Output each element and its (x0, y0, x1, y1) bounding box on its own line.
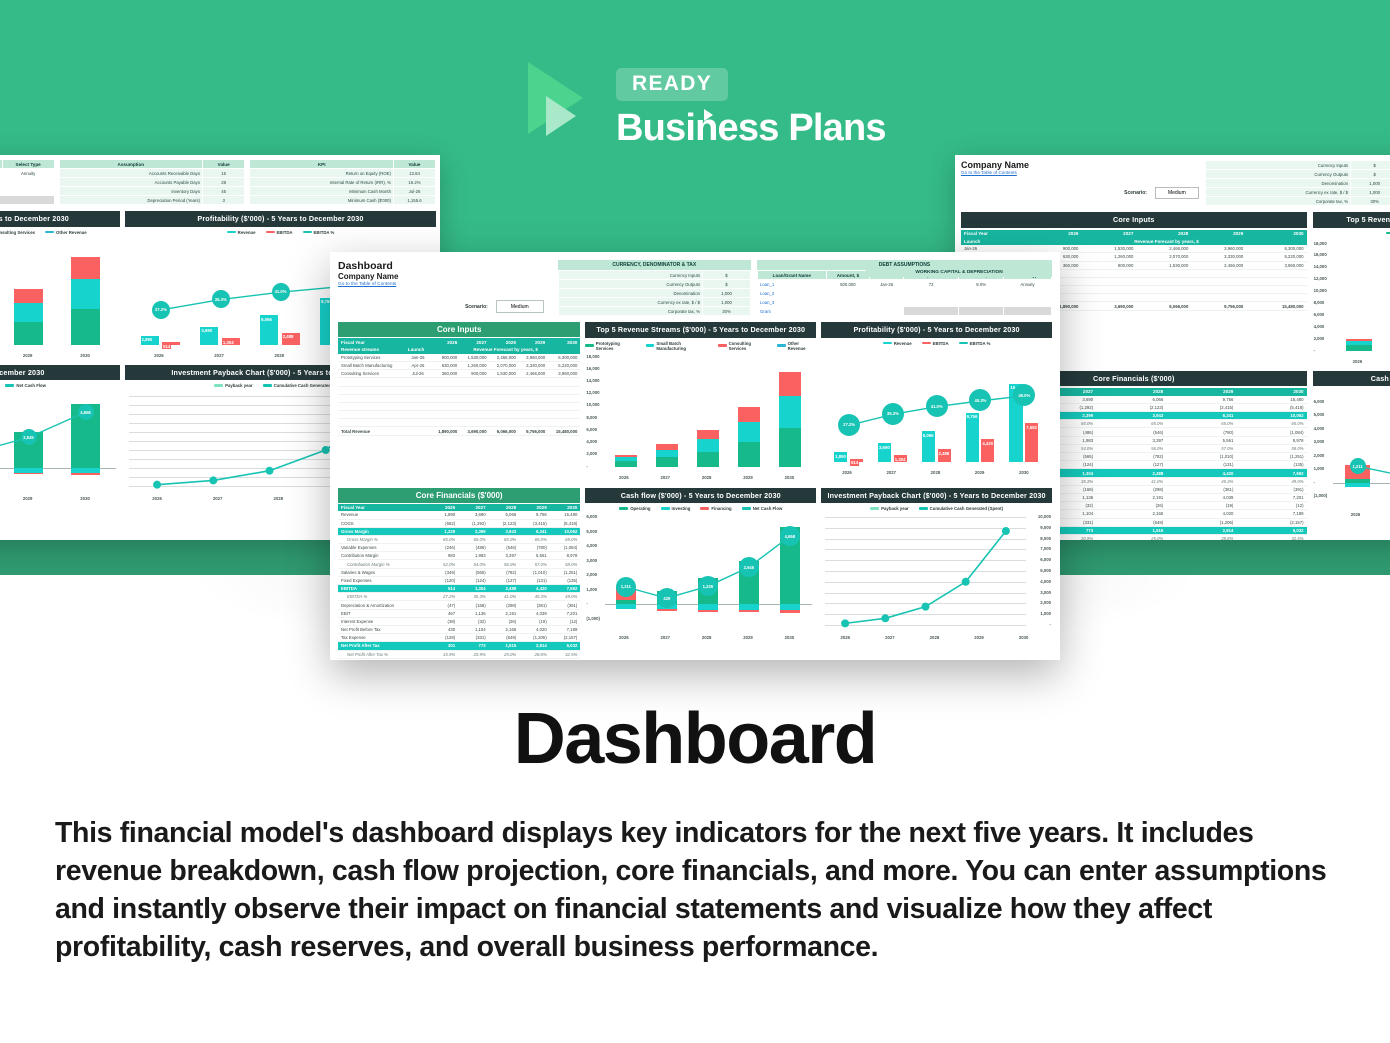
cfin-label-1: COGS (338, 519, 430, 527)
cfin-cell-18-1: 894 (458, 658, 489, 660)
cfin-cell-2-3: 6,341 (519, 527, 550, 535)
y-tick-4: 8,000 (1314, 300, 1325, 305)
cfin-cell-2-2: 3,943 (489, 527, 520, 535)
cfin-cell-7-3: (1,010) (1166, 453, 1236, 461)
cfin-cell-0-2: 6,066 (1096, 396, 1166, 404)
bar-prototyping-services-2026 (1346, 345, 1372, 350)
bar-small-batch-manufacturing-2027 (656, 450, 677, 458)
cfin-cell-11-1: (168) (458, 601, 489, 609)
legend-payback-year: Payback year (225, 383, 252, 388)
cfin-label-9: EBITDA (338, 585, 430, 593)
core-inputs-title: Core Inputs (338, 322, 580, 337)
cfin-cell-2-1: 2,399 (458, 527, 489, 535)
ci-row-name-2[interactable]: Consulting Services (338, 370, 405, 378)
cfin-cell-9-3: 4,420 (1166, 469, 1236, 477)
cfin-cell-1-4: (5,418) (550, 519, 581, 527)
ci-cell-2-0[interactable]: 360,000 (431, 370, 460, 378)
debt-cell-3-1[interactable] (826, 307, 870, 316)
currency-panel-title: CURRENCY, DENOMINATOR & TAX (558, 260, 751, 270)
x-tick-2029: 2029 (974, 635, 984, 640)
cfin-cell-17-3: 28.8% (1166, 534, 1236, 540)
table-row[interactable]: Small Batch ManufacturingApr-26630,0001,… (338, 361, 580, 369)
ci-cell-0-3[interactable]: 3,960,000 (519, 354, 548, 362)
cfin-cell-5-4: 8,978 (550, 552, 581, 560)
table-row-empty[interactable] (338, 378, 580, 386)
ci-cell-2-3[interactable]: 2,466,000 (519, 370, 548, 378)
chart-title-top5: Top 5 Revenue Streams ($'000) - 5 Years … (585, 322, 816, 337)
cfin-cell-15-1: (331) (458, 634, 489, 642)
y-tick-0: - (1314, 348, 1315, 353)
cfin-cell-0-2: 6,066 (489, 511, 520, 519)
lg-ebitda: EBITDA (933, 341, 949, 346)
y-tick-1: 2,000 (586, 451, 597, 456)
lg-consulting: Consulting Services (729, 341, 768, 351)
cfin-yr-2029: 2029 (519, 504, 550, 512)
point-2028 (922, 603, 930, 611)
td-exrate-label: Currency ex rate, $ / $ (1205, 188, 1350, 197)
currency-table-right: Currency Inputs$ Currency Outputs$ Denom… (1205, 160, 1390, 206)
td-r0c1-right[interactable]: 1,530,000 (1081, 245, 1136, 253)
cfin-cell-6-4: 58.0% (550, 560, 581, 568)
th-cf-2028-right: 2028 (1096, 388, 1166, 396)
debt-assumptions-table-left: Amount, $ Launch Term, Months Interest, … (0, 159, 55, 205)
td-r2c4-right[interactable]: 3,960,000 (1246, 261, 1306, 269)
cfin-cell-0-4: 15,480 (550, 511, 581, 519)
cfin-cell-5-4: 8,978 (1236, 436, 1306, 444)
ci-cell-1-3[interactable]: 3,330,000 (519, 361, 548, 369)
ci-streams-label: Revenue streams (338, 346, 405, 354)
td-roe: 13.84 (393, 169, 435, 178)
scenario-label: Scenario: (465, 304, 488, 310)
bar-consulting-services-2029 (738, 407, 759, 422)
cfin-cell-8-1: (124) (458, 576, 489, 584)
x-tick-2027: 2027 (213, 496, 223, 501)
cfin-cell-14-3: 4,020 (519, 625, 550, 633)
net-cash-flow-line (1313, 398, 1390, 518)
debt-cell-2-1[interactable] (826, 298, 870, 307)
cfin-label-11: Depreciation & Amortization (338, 601, 430, 609)
cfin-cell-1-4: (5,418) (1236, 403, 1306, 411)
td-r0c2-right[interactable]: 2,466,000 (1136, 245, 1191, 253)
lg-netcash: Net Cash Flow (753, 506, 783, 511)
td-cur-out[interactable]: $ (1351, 170, 1390, 179)
cfin-cell-7-2: (782) (489, 568, 520, 576)
table-row: Depreciation & Amortization(47)(168)(298… (338, 601, 580, 609)
lg-revenue: Revenue (894, 341, 912, 346)
y-tick-6: 12,000 (1314, 276, 1327, 281)
cfin-cell-11-3: (381) (1166, 485, 1236, 493)
cur-in-value[interactable]: $ (703, 271, 751, 280)
y-tick-7: 14,000 (1314, 264, 1327, 269)
y-tick-8: 16,000 (586, 366, 599, 371)
cfin-cell-5-1: 1,983 (458, 552, 489, 560)
table-row-empty[interactable] (338, 386, 580, 394)
ready-badge: READY (616, 68, 728, 101)
td-ap-days[interactable]: 28 (202, 178, 244, 187)
ci-cell-0-4[interactable]: 6,300,000 (548, 354, 580, 362)
cfin-yr-2027: 2027 (458, 504, 489, 512)
chart-title-top5-left: Top 5 Revenue Streams ($'000) - 5 Years … (0, 211, 120, 226)
th-cf-2030-right: 2030 (1236, 388, 1306, 396)
bar-consulting-services-2028 (697, 430, 718, 439)
cfin-cell-10-2: 41.0% (1096, 477, 1166, 485)
core-financials-title: Core Financials ($'000) (338, 488, 580, 503)
ci-total-2030: 15,480,000 (548, 427, 580, 435)
cfin-cell-8-3: (131) (1166, 461, 1236, 469)
ci-cell-2-2[interactable]: 1,530,000 (490, 370, 519, 378)
bar-consulting-services-2026 (1346, 339, 1372, 341)
x-tick-2027: 2027 (885, 635, 895, 640)
cfin-cell-6-2: 56.0% (1096, 444, 1166, 452)
cfin-cell-12-2: 2,191 (489, 609, 520, 617)
cfin-cell-17-0: 15.9% (430, 650, 458, 658)
cfin-cell-7-1: (565) (458, 568, 489, 576)
lg-investing: Investing (672, 506, 691, 511)
chart-legend-cashflow: Operating Investing Financing Net Cash F… (585, 503, 816, 513)
cfin-cell-16-4: 5,032 (1236, 526, 1306, 534)
y-tick-9: 18,000 (586, 354, 599, 359)
td-denom[interactable]: 1,000 (1351, 179, 1390, 188)
cfin-cell-13-3: (19) (1166, 502, 1236, 510)
cfin-label-8: Fixed Expenses (338, 576, 430, 584)
x-tick-2029: 2029 (23, 353, 33, 358)
cfin-label-10: EBITDA % (338, 593, 430, 601)
lg-cumulative: Cumulative Cash Generated (Spent) (930, 506, 1003, 511)
td-r1c1-right[interactable]: 1,260,000 (1081, 253, 1136, 261)
x-tick-2028: 2028 (702, 635, 712, 640)
ci-cell-1-0[interactable]: 630,000 (431, 361, 460, 369)
cfin-cell-2-4: 10,062 (550, 527, 581, 535)
net-cash-flow-line (0, 392, 120, 502)
bubble-netcash-2026: 1,211 (1350, 458, 1366, 474)
th-assumption: Assumption (59, 160, 202, 169)
x-tick-2027: 2027 (214, 353, 224, 358)
cfin-label-17: Net Profit After Tax % (338, 650, 430, 658)
cfin-cell-8-2: (127) (1096, 461, 1166, 469)
cfin-label-4: Variable Expenses (338, 544, 430, 552)
debt-cell-1-1[interactable] (826, 289, 870, 298)
x-tick-2027: 2027 (886, 470, 896, 475)
debt-cell-3-0[interactable]: Grant (757, 307, 826, 316)
ci-cell-1-2[interactable]: 2,070,000 (490, 361, 519, 369)
td-total-4-right: 15,480,000 (1246, 302, 1306, 310)
ci-row-name-0[interactable]: Prototyping Services (338, 354, 405, 362)
cfin-label-2: Gross Margin (338, 527, 430, 535)
cfin-cell-6-2: 56.0% (489, 560, 520, 568)
y-tick-2: 4,000 (586, 439, 597, 444)
ci-cell-0-2[interactable]: 2,466,000 (490, 354, 519, 362)
cfin-cell-7-4: (1,251) (1236, 453, 1306, 461)
cfin-cell-14-3: 4,020 (1166, 510, 1236, 518)
scenario-select-right[interactable]: Medium (1155, 187, 1199, 199)
debt-cell-2-0[interactable]: Loan_3 (757, 298, 826, 307)
cfin-cell-3-4: 65.0% (550, 535, 581, 543)
chart-title-cashflow: Cash flow ($'000) - 5 Years to December … (585, 488, 816, 503)
td-tax[interactable]: 30% (1351, 197, 1390, 206)
td-r0c4-right[interactable]: 6,300,000 (1246, 245, 1306, 253)
cfin-cell-1-1: (1,292) (458, 519, 489, 527)
bar-prototyping-services-2030 (71, 309, 101, 345)
ci-cell-1-1[interactable]: 1,260,000 (460, 361, 489, 369)
y-tick-7: 14,000 (586, 378, 599, 383)
ci-row-launch-0[interactable]: Jan-26 (405, 354, 431, 362)
wc-panel-title: WORKING CAPITAL & DEPRECIATION (866, 268, 1052, 277)
bar-consulting-services-2030 (71, 257, 101, 279)
cfin-cell-1-0: (662) (430, 519, 458, 527)
cfin-cell-5-2: 3,397 (1096, 436, 1166, 444)
ci-row-name-1[interactable]: Small Batch Manufacturing (338, 361, 405, 369)
x-tick-2028: 2028 (702, 475, 712, 480)
debt-cell-1-0[interactable]: Loan_2 (757, 289, 826, 298)
cfin-cell-0-4: 15,480 (1236, 396, 1306, 404)
ci-cell-1-4[interactable]: 5,220,000 (548, 361, 580, 369)
cfin-cell-14-0: 430 (430, 625, 458, 633)
table-row: Contribution Margin %52.0%54.0%56.0%57.0… (338, 560, 580, 568)
td-r1c4-right[interactable]: 5,220,000 (1246, 253, 1306, 261)
ci-fy-label: Fiscal Year (338, 338, 405, 346)
exrate-value[interactable]: 1,000 (703, 298, 751, 307)
denom-value[interactable]: 1,000 (703, 289, 751, 298)
table-row: EBITDA %27.2%35.3%41.0%45.3%49.0% (338, 593, 580, 601)
lg-operating: Operating (630, 506, 650, 511)
company-name: Company Name (338, 272, 552, 281)
td-r1c3-right[interactable]: 3,330,000 (1191, 253, 1246, 261)
bar-prototyping-services-2029 (738, 442, 759, 466)
lg-payback: Payback year (881, 506, 908, 511)
cfin-cell-18-3: 3,003 (519, 658, 550, 660)
table-row: Interest Expense(38)(32)(26)(19)(12) (338, 617, 580, 625)
bar-small-batch-manufacturing-2029 (14, 303, 44, 322)
td-r0c3-right[interactable]: 3,960,000 (1191, 245, 1246, 253)
bubble-netcash-2030: 4,658 (78, 404, 94, 420)
ci-cell-2-4[interactable]: 3,960,000 (548, 370, 580, 378)
toc-link-right[interactable]: Go to the Table of Contents (961, 170, 1199, 175)
tax-value[interactable]: 30% (703, 307, 751, 316)
ci-total-2026: 1,890,000 (431, 427, 460, 435)
cfin-label-3: Gross Margin % (338, 535, 430, 543)
cfin-cell-3-4: 65.0% (1236, 420, 1306, 428)
x-tick-2026: 2026 (619, 475, 629, 480)
ci-yr-2026: 2026 (431, 338, 460, 346)
table-row: Net Profit After Tax3017731,5152,8145,03… (338, 642, 580, 650)
td-dep[interactable]: 3 (202, 196, 244, 205)
table-row: Gross Margin1,2292,3993,9436,34110,062 (338, 527, 580, 535)
main-dashboard-sheet[interactable]: Dashboard Company Name Go to the Table o… (330, 252, 1060, 660)
td-cur-in-label: Currency Inputs (1205, 161, 1350, 170)
bubble-ebitda-pct-2026: 27.2% (152, 301, 170, 319)
bar-consulting-services-2026 (615, 455, 636, 457)
bar-consulting-services-2029 (14, 289, 44, 303)
x-tick-2026: 2026 (619, 635, 629, 640)
brand-name-text: Business Plans (616, 107, 886, 149)
cfin-cell-10-4: 49.0% (1236, 477, 1306, 485)
td-ap-days-label: Accounts Payable Days (59, 178, 202, 187)
table-row: Net Profit After Tax %15.9%20.9%25.0%28.… (338, 650, 580, 658)
ci-row-launch-1[interactable]: Apr-26 (405, 361, 431, 369)
company-name-right: Company Name (961, 160, 1199, 170)
y-tick-1: 2,000 (1314, 336, 1325, 341)
table-row: Net Profit Before Tax4301,1042,1654,0207… (338, 625, 580, 633)
legend-netcash: Net Cash Flow (16, 383, 46, 388)
chart-legend-top5-left: Prototyping Services Small Batch Manufac… (0, 227, 120, 237)
td-type[interactable]: Annuity (2, 169, 54, 178)
cfin-cell-0-3: 9,756 (519, 511, 550, 519)
table-row-empty[interactable] (338, 394, 580, 402)
exrate-label: Currency ex rate, $ / $ (558, 298, 702, 307)
bar-small-batch-manufacturing-2030 (71, 279, 101, 309)
cfin-cell-12-3: 4,039 (519, 609, 550, 617)
cfin-cell-11-4: (391) (1236, 485, 1306, 493)
debt-th-0: Loan/Grant Name (757, 271, 826, 280)
debt-cell-0-1[interactable]: 500,000 (826, 280, 870, 289)
cfin-label-16: Net Profit After Tax (338, 642, 430, 650)
ci-cell-0-0[interactable]: 900,000 (431, 354, 460, 362)
table-row: EBITDA5141,3042,4884,4207,592 (338, 585, 580, 593)
cfin-cell-13-0: (38) (430, 617, 458, 625)
page-title: Dashboard (0, 698, 1390, 780)
table-row: Gross Margin %65.0%65.0%65.0%65.0%65.0% (338, 535, 580, 543)
td-roe-label: Return on Equity (ROE) (250, 169, 394, 178)
cfin-cell-17-4: 32.5% (1236, 534, 1306, 540)
td-total-3-right: 9,756,000 (1191, 302, 1246, 310)
brand-logo: READY Business Plans (528, 58, 886, 150)
ci-yr-2029: 2029 (519, 338, 548, 346)
cfin-cell-17-3: 28.8% (519, 650, 550, 658)
cfin-label-6: Contribution Margin % (338, 560, 430, 568)
cfin-cell-13-3: (19) (519, 617, 550, 625)
table-row[interactable]: Prototyping ServicesJan-26900,0001,530,0… (338, 354, 580, 362)
cfin-cell-12-2: 2,191 (1096, 493, 1166, 501)
y-tick-3: 6,000 (1314, 312, 1325, 317)
chart-legend-cashflow-right: Operating Investing (1313, 386, 1390, 396)
cfin-cell-12-3: 4,039 (1166, 493, 1236, 501)
cfin-cell-9-2: 2,488 (1096, 469, 1166, 477)
td-inv-days-label: Inventory Days (59, 187, 202, 196)
x-tick-2026: 2026 (154, 353, 164, 358)
td-r1c2-right[interactable]: 2,070,000 (1136, 253, 1191, 261)
table-row: COGS(662)(1,292)(2,123)(3,415)(5,418) (338, 519, 580, 527)
chart-title-cashflow-right: Cash flow ($'000) - 5 Years to December … (1313, 371, 1390, 386)
x-tick-2029: 2029 (23, 496, 33, 501)
play-triangle-icon (528, 58, 602, 138)
ci-cell-2-1[interactable]: 900,000 (460, 370, 489, 378)
cfin-cell-8-4: (135) (1236, 461, 1306, 469)
cfin-cell-2-0: 1,229 (430, 527, 458, 535)
y-tick-2: 4,000 (1314, 324, 1325, 329)
th-2030-right: 2030 (1246, 230, 1306, 238)
cfin-cell-16-4: 5,032 (550, 642, 581, 650)
bar-prototyping-services-2028 (697, 452, 718, 467)
cfin-cell-13-4: (12) (1236, 502, 1306, 510)
th-value: Value (202, 160, 244, 169)
table-row-empty[interactable] (338, 411, 580, 419)
y-tick-3: 6,000 (586, 427, 597, 432)
th-2027-right: 2027 (1081, 230, 1136, 238)
td-ar-days[interactable]: 15 (202, 169, 244, 178)
cfin-cell-5-2: 3,397 (489, 552, 520, 560)
x-tick-2028: 2028 (930, 635, 940, 640)
core-financials-table: Fiscal Year 2026 2027 2028 2029 2030 Rev… (338, 504, 580, 660)
table-row-empty[interactable] (338, 419, 580, 427)
td-inv-days[interactable]: 45 (202, 187, 244, 196)
lg-prototyping: Prototyping Services (596, 341, 636, 351)
cfin-cell-17-2: 25.0% (1096, 534, 1166, 540)
tax-label: Corporate tax, % (558, 307, 702, 316)
y-tick-0: - (586, 464, 587, 469)
bar-prototyping-services-2027 (656, 457, 677, 466)
cfin-cell-12-1: 1,136 (458, 609, 489, 617)
td-r2c1-right[interactable]: 900,000 (1081, 261, 1136, 269)
table-row[interactable]: Consulting ServicesJul-26360,000900,0001… (338, 370, 580, 378)
table-row: Variable Expenses(246)(486)(546)(780)(1,… (338, 544, 580, 552)
x-tick-2029: 2029 (743, 475, 753, 480)
cfin-label-7: Salaries & Wages (338, 568, 430, 576)
td-exrate[interactable]: 1,000 (1351, 188, 1390, 197)
cfin-cell-8-4: (135) (550, 576, 581, 584)
cfin-label-5: Contribution Margin (338, 552, 430, 560)
chart-title-cashflow-left: Cash flow ($'000) - 5 Years to December … (0, 365, 120, 380)
td-cur-in[interactable]: $ (1351, 161, 1390, 170)
wc-table-left: Assumption Value Accounts Receivable Day… (59, 159, 246, 205)
td-total-2-right: 6,066,000 (1136, 302, 1191, 310)
cfin-cell-15-0: (129) (430, 634, 458, 642)
ci-row-launch-2[interactable]: Jul-26 (405, 370, 431, 378)
point-2027 (881, 614, 889, 622)
chart-legend-top5: Prototyping Services Small Batch Manufac… (585, 338, 816, 353)
cfin-cell-16-3: 2,814 (1166, 526, 1236, 534)
cfin-cell-13-1: (32) (458, 617, 489, 625)
x-tick-2027: 2027 (660, 475, 670, 480)
cfin-cell-13-2: (26) (489, 617, 520, 625)
x-tick-2026: 2026 (842, 470, 852, 475)
cfin-cell-9-1: 1,304 (458, 585, 489, 593)
x-tick-2030: 2030 (80, 353, 90, 358)
chart-legend-top5-right: Prototyping Services Small Batch Manufac… (1313, 228, 1390, 238)
td-r2c2-right[interactable]: 1,530,000 (1136, 261, 1191, 269)
point-2026 (153, 481, 161, 489)
chart-legend-payback: Payback year Cumulative Cash Generated (… (821, 503, 1052, 513)
sheet-title: Dashboard (338, 260, 552, 272)
scenario-select[interactable]: Medium (496, 300, 544, 313)
x-tick-2027: 2027 (660, 635, 670, 640)
cfin-cell-3-3: 65.0% (1166, 420, 1236, 428)
table-row-empty[interactable] (338, 402, 580, 410)
cur-out-label: Currency Outputs (558, 280, 702, 289)
cur-out-value[interactable]: $ (703, 280, 751, 289)
cfin-cell-1-3: (3,415) (1166, 403, 1236, 411)
cfin-yr-2028: 2028 (489, 504, 520, 512)
cumulative-cash-line (821, 513, 1052, 641)
td-r2c3-right[interactable]: 2,466,000 (1191, 261, 1246, 269)
cfin-cell-18-4: 5,342 (550, 658, 581, 660)
cfin-cell-3-0: 65.0% (430, 535, 458, 543)
cfin-cell-13-2: (26) (1096, 502, 1166, 510)
table-row: Contribution Margin9831,9833,3975,5618,9… (338, 552, 580, 560)
core-inputs-table: Fiscal Year 2026 2027 2028 2029 2030 Rev… (338, 338, 580, 435)
cfin-fy-label: Fiscal Year (338, 504, 430, 512)
toc-link[interactable]: Go to the Table of Contents (338, 282, 552, 287)
cfin-cell-3-2: 65.0% (1096, 420, 1166, 428)
ci-cell-0-1[interactable]: 1,530,000 (460, 354, 489, 362)
chart-legend-cashflow-left: Operating Investing Financing Net Cash F… (0, 380, 120, 390)
point-2027 (209, 476, 217, 484)
cfin-cell-10-4: 49.0% (550, 593, 581, 601)
y-tick-4: 8,000 (586, 415, 597, 420)
debt-cell-0-0[interactable]: Loan_1 (757, 280, 826, 289)
cfin-yr-2026: 2026 (430, 504, 458, 512)
cfin-yr-2030: 2030 (550, 504, 581, 512)
cfin-cell-7-4: (1,251) (550, 568, 581, 576)
